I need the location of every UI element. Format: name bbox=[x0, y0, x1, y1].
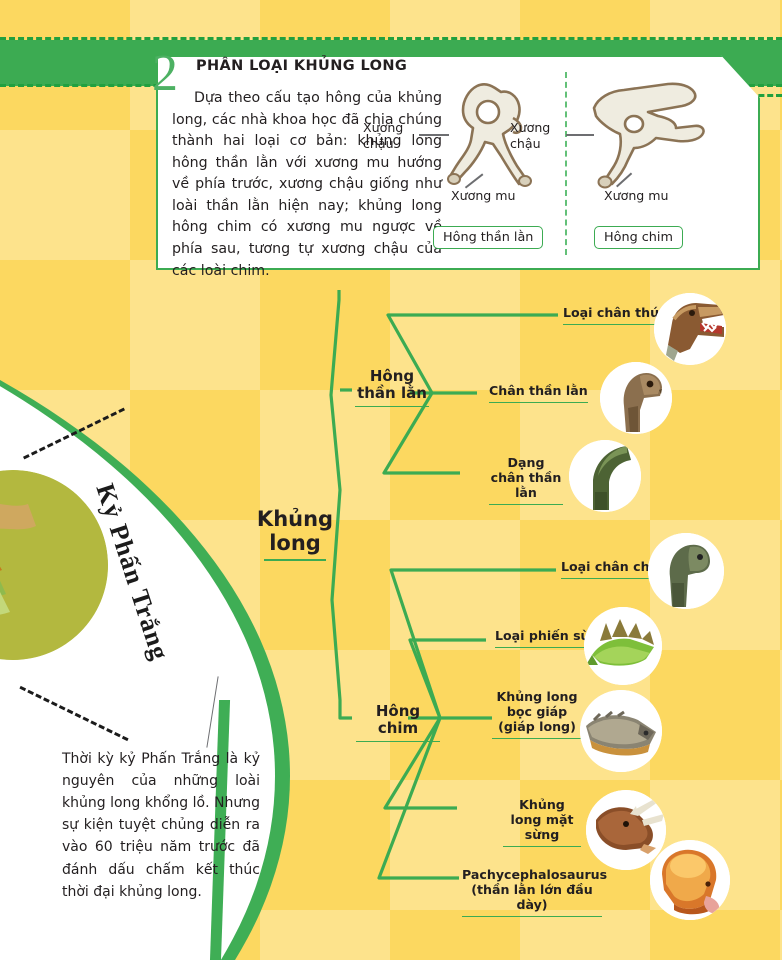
tree-leaf-sauropodomorph: Chân thần lằn bbox=[489, 384, 588, 403]
dino-circle-sauropodomorph bbox=[600, 362, 672, 434]
ankylosaur-armor-icon bbox=[580, 690, 662, 772]
dino-circle-pachycephalosaur bbox=[650, 840, 730, 920]
tree-node-ornithischian: Hông chim bbox=[356, 703, 440, 742]
section-body-text: Dựa theo cấu tạo hông của khủng long, cá… bbox=[172, 90, 442, 279]
stegosaurus-plates-icon bbox=[584, 607, 662, 685]
tree-leaf-theropod: Loại chân thú bbox=[563, 306, 659, 325]
dino-circle-theropod bbox=[654, 293, 726, 365]
tree-root-label: Khủng long bbox=[254, 508, 336, 561]
tyrannosaurus-head-icon bbox=[654, 293, 726, 365]
saurischian-pelvis-label: Xương chậu bbox=[363, 120, 423, 151]
ornithopod-head-icon bbox=[648, 533, 724, 609]
saurischian-pubis-label: Xương mu bbox=[451, 188, 541, 204]
tree-leaf-ceratopsian: Khủng long mặt sừng bbox=[503, 798, 581, 847]
ornithischian-pelvis-leader bbox=[566, 134, 594, 136]
dino-circle-sauropod bbox=[569, 440, 641, 512]
hip-diagram-ornithischian: Xương chậu Xương mu Hông chim bbox=[572, 78, 712, 212]
ornithischian-badge: Hông chim bbox=[594, 226, 683, 249]
hip-diagram-divider bbox=[565, 72, 567, 255]
saurischian-pelvis-leader bbox=[419, 134, 449, 136]
saurischian-badge: Hông thần lằn bbox=[433, 226, 543, 249]
dino-circle-stegosaur bbox=[584, 607, 662, 685]
triceratops-head-icon bbox=[586, 790, 666, 870]
tree-leaf-sauropod: Dạng chân thần lằn bbox=[489, 456, 563, 505]
dino-circle-ornithopod bbox=[648, 533, 724, 609]
ornithischian-pelvis-label: Xương chậu bbox=[510, 120, 570, 151]
infographic-page: 2 PHÂN LOẠI KHỦNG LONG Dựa theo cấu tạo … bbox=[0, 0, 782, 960]
dino-circle-ankylosaur bbox=[580, 690, 662, 772]
sauropod-neck-icon bbox=[569, 440, 641, 512]
section-title: PHÂN LOẠI KHỦNG LONG bbox=[196, 58, 407, 74]
era-description: Thời kỳ kỷ Phấn Trắng là kỷ nguyên của n… bbox=[62, 748, 260, 903]
pachycephalosaurus-dome-icon bbox=[650, 840, 730, 920]
ornithischian-pubis-label: Xương mu bbox=[604, 188, 694, 204]
dino-circle-ceratopsian bbox=[586, 790, 666, 870]
sauropodomorph-head-icon bbox=[600, 362, 672, 434]
tree-node-saurischian: Hông thần lằn bbox=[355, 368, 429, 407]
tree-leaf-ankylosaur: Khủng long bọc giáp (giáp long) bbox=[492, 690, 582, 739]
tree-leaf-pachycephalosaur: Pachycephalosaurus (thần lằn lớn đầu dày… bbox=[462, 868, 602, 917]
section-body: Dựa theo cấu tạo hông của khủng long, cá… bbox=[172, 88, 442, 282]
